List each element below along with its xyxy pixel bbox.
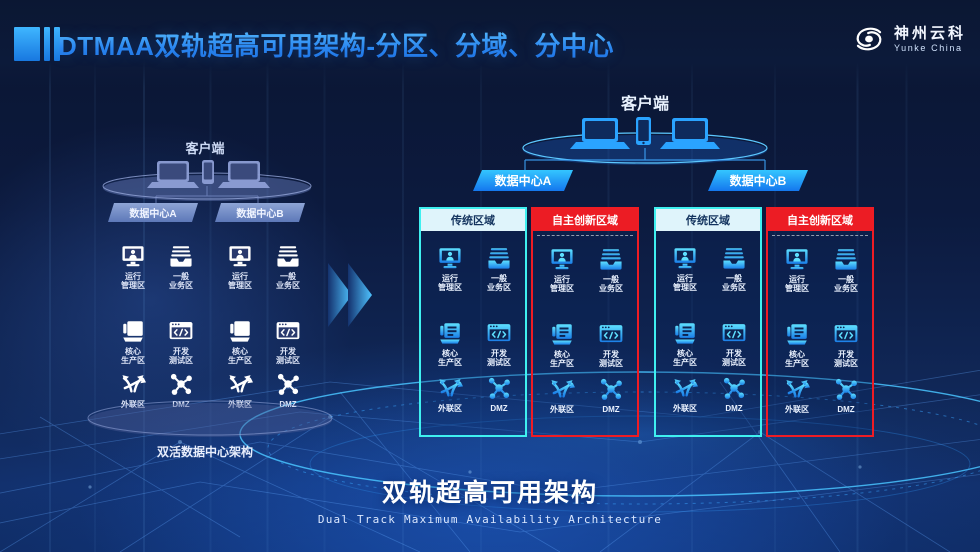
- dca-inno-tile-ops: 运行 管理区: [540, 246, 584, 294]
- person-monitor-icon: [227, 243, 253, 269]
- brand-name-cn: 神州云科: [894, 25, 966, 42]
- dc-a-innovation-zone: 自主创新区域 运行 管理区: [531, 207, 639, 437]
- zone-label-2: 生产区: [111, 356, 155, 365]
- dcb-trad-tile-business: 一般 业务区: [712, 245, 756, 293]
- zone-label-2: 生产区: [775, 359, 819, 368]
- zone-label-2: 业务区: [477, 283, 521, 292]
- dc-b-traditional-zone: 传统区域 运行 管理区: [654, 207, 762, 437]
- left-b-tile-business: 一般 业务区: [266, 243, 310, 291]
- dca-trad-tile-dmz: DMZ: [477, 375, 521, 413]
- dcb-inno-tile-devtest: 开发 测试区: [824, 321, 868, 369]
- zone-title: 传统区域: [421, 209, 525, 231]
- slide-canvas: DTMAA双轨超高可用架构-分区、分域、分中心 神州云科 Yunke China…: [0, 0, 980, 552]
- node-cluster-icon: [486, 375, 512, 401]
- zone-label-2: 测试区: [824, 359, 868, 368]
- dca-inno-tile-external: 外联区: [540, 376, 584, 414]
- left-b-tile-core: 核心 生产区: [218, 318, 262, 366]
- server-database-icon: [120, 318, 146, 344]
- code-window-icon: [168, 318, 194, 344]
- left-b-tile-ops: 运行 管理区: [218, 243, 262, 291]
- person-monitor-icon: [437, 245, 463, 271]
- branching-arrows-icon: [227, 371, 253, 397]
- left-dc-a-label: 数据中心A: [108, 203, 198, 222]
- node-cluster-icon: [721, 375, 747, 401]
- zone-label-2: 测试区: [159, 356, 203, 365]
- zone-label: 外联区: [428, 404, 472, 413]
- left-diagram-caption: 双活数据中心架构: [0, 443, 410, 460]
- dcb-trad-tile-dmz: DMZ: [712, 375, 756, 413]
- zone-label-2: 测试区: [477, 358, 521, 367]
- code-window-icon: [598, 321, 624, 347]
- caption-en: Dual Track Maximum Availability Architec…: [0, 513, 980, 526]
- dcb-trad-tile-devtest: 开发 测试区: [712, 320, 756, 368]
- code-window-icon: [275, 318, 301, 344]
- right-diagram-caption: 双轨超高可用架构 Dual Track Maximum Availability…: [0, 473, 980, 526]
- server-database-icon: [549, 321, 575, 347]
- dc-b-innovation-zone: 自主创新区域 运行 管理区: [766, 207, 874, 437]
- brand-logo: 神州云科 Yunke China: [852, 22, 966, 56]
- zone-title: 自主创新区域: [533, 209, 637, 231]
- dca-trad-tile-external: 外联区: [428, 375, 472, 413]
- right-dc-a-label: 数据中心A: [473, 170, 573, 191]
- stacked-inbox-icon: [486, 245, 512, 271]
- node-cluster-icon: [833, 376, 859, 402]
- zone-label-2: 生产区: [428, 358, 472, 367]
- server-database-icon: [784, 321, 810, 347]
- branching-arrows-icon: [672, 375, 698, 401]
- double-chevron-right-icon: [326, 255, 388, 335]
- zone-label: DMZ: [477, 404, 521, 413]
- left-a-tile-business: 一般 业务区: [159, 243, 203, 291]
- left-a-tile-core: 核心 生产区: [111, 318, 155, 366]
- caption-cn: 双轨超高可用架构: [0, 473, 980, 509]
- person-monitor-icon: [120, 243, 146, 269]
- stacked-inbox-icon: [721, 245, 747, 271]
- zone-label-2: 业务区: [159, 281, 203, 290]
- dcb-trad-tile-ops: 运行 管理区: [663, 245, 707, 293]
- stacked-inbox-icon: [598, 246, 624, 272]
- left-b-tile-devtest: 开发 测试区: [266, 318, 310, 366]
- dcb-inno-tile-ops: 运行 管理区: [775, 246, 819, 294]
- zone-label-2: 管理区: [540, 284, 584, 293]
- code-window-icon: [833, 321, 859, 347]
- stacked-inbox-icon: [275, 243, 301, 269]
- dcb-inno-tile-business: 一般 业务区: [824, 246, 868, 294]
- zone-label: DMZ: [712, 404, 756, 413]
- node-cluster-icon: [598, 376, 624, 402]
- code-window-icon: [721, 320, 747, 346]
- branching-arrows-icon: [784, 376, 810, 402]
- dcb-trad-tile-external: 外联区: [663, 375, 707, 413]
- server-database-icon: [672, 320, 698, 346]
- dcb-inno-tile-core: 核心 生产区: [775, 321, 819, 369]
- person-monitor-icon: [784, 246, 810, 272]
- zone-label-2: 业务区: [824, 284, 868, 293]
- galaxy-swirl-icon: [852, 22, 886, 56]
- left-a-tile-devtest: 开发 测试区: [159, 318, 203, 366]
- branching-arrows-icon: [120, 371, 146, 397]
- person-monitor-icon: [549, 246, 575, 272]
- zone-title: 传统区域: [656, 209, 760, 231]
- server-database-icon: [227, 318, 253, 344]
- zone-label-2: 测试区: [712, 358, 756, 367]
- dca-trad-tile-devtest: 开发 测试区: [477, 320, 521, 368]
- left-base-platform: [85, 398, 335, 448]
- zone-label-2: 管理区: [218, 281, 262, 290]
- dcb-trad-tile-core: 核心 生产区: [663, 320, 707, 368]
- zone-label-2: 业务区: [712, 283, 756, 292]
- branching-arrows-icon: [437, 375, 463, 401]
- node-cluster-icon: [168, 371, 194, 397]
- left-a-tile-ops: 运行 管理区: [111, 243, 155, 291]
- zone-label: DMZ: [824, 405, 868, 414]
- left-dc-b-label: 数据中心B: [215, 203, 305, 222]
- zone-label-2: 生产区: [540, 359, 584, 368]
- title-bars-icon: [14, 27, 60, 61]
- dca-inno-tile-devtest: 开发 测试区: [589, 321, 633, 369]
- zone-label-2: 管理区: [775, 284, 819, 293]
- right-dc-b-label: 数据中心B: [708, 170, 808, 191]
- node-cluster-icon: [275, 371, 301, 397]
- zone-label-2: 测试区: [266, 356, 310, 365]
- stacked-inbox-icon: [833, 246, 859, 272]
- zone-label: 外联区: [775, 405, 819, 414]
- stacked-inbox-icon: [168, 243, 194, 269]
- zone-label-2: 生产区: [663, 358, 707, 367]
- dca-trad-tile-ops: 运行 管理区: [428, 245, 472, 293]
- dca-trad-tile-business: 一般 业务区: [477, 245, 521, 293]
- dca-inno-tile-core: 核心 生产区: [540, 321, 584, 369]
- dcb-inno-tile-external: 外联区: [775, 376, 819, 414]
- page-title: DTMAA双轨超高可用架构-分区、分域、分中心: [58, 26, 614, 63]
- zone-label: DMZ: [589, 405, 633, 414]
- code-window-icon: [486, 320, 512, 346]
- zone-label-2: 管理区: [111, 281, 155, 290]
- zone-label-2: 测试区: [589, 359, 633, 368]
- page-header: DTMAA双轨超高可用架构-分区、分域、分中心 神州云科 Yunke China: [0, 0, 980, 88]
- branching-arrows-icon: [549, 376, 575, 402]
- dcb-inno-tile-dmz: DMZ: [824, 376, 868, 414]
- zone-title: 自主创新区域: [768, 209, 872, 231]
- zone-label-2: 管理区: [428, 283, 472, 292]
- dca-inno-tile-dmz: DMZ: [589, 376, 633, 414]
- zone-label-2: 生产区: [218, 356, 262, 365]
- zone-label: 外联区: [663, 404, 707, 413]
- dca-trad-tile-core: 核心 生产区: [428, 320, 472, 368]
- zone-label-2: 业务区: [589, 284, 633, 293]
- dca-inno-tile-business: 一般 业务区: [589, 246, 633, 294]
- zone-label: 外联区: [540, 405, 584, 414]
- dc-a-traditional-zone: 传统区域 运行 管理区: [419, 207, 527, 437]
- zone-label-2: 业务区: [266, 281, 310, 290]
- brand-name-en: Yunke China: [894, 43, 966, 53]
- person-monitor-icon: [672, 245, 698, 271]
- server-database-icon: [437, 320, 463, 346]
- zone-label-2: 管理区: [663, 283, 707, 292]
